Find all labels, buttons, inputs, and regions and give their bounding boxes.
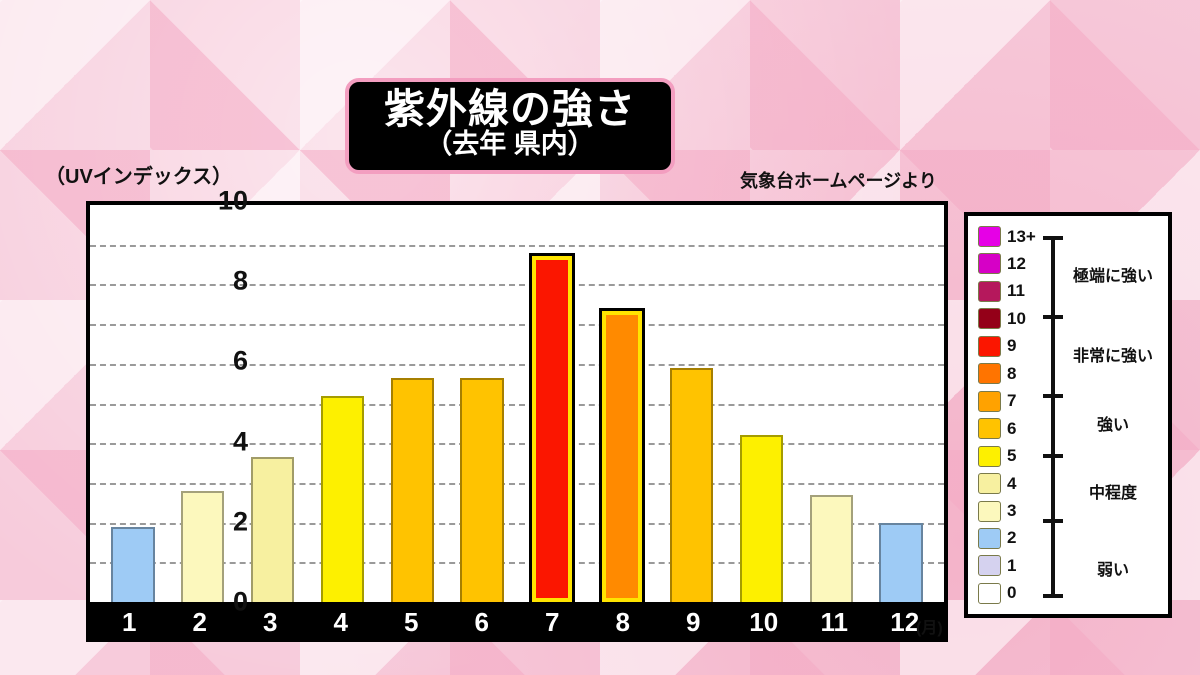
bar-month-7[interactable] (529, 253, 575, 602)
legend-row: 0 (978, 581, 1040, 606)
bar-month-10[interactable] (740, 435, 783, 602)
legend-row: 2 (978, 526, 1040, 551)
bar-month-8[interactable] (599, 308, 645, 602)
x-tick-label-4: 4 (306, 607, 377, 638)
page-subtitle: （去年 県内） (359, 130, 661, 160)
legend-swatch-0 (978, 583, 1001, 604)
legend-swatch-label: 5 (1007, 446, 1016, 466)
legend-swatch-11 (978, 281, 1001, 302)
bar-month-11[interactable] (810, 495, 853, 602)
legend-swatch-10 (978, 308, 1001, 329)
y-tick-label: 10 (188, 186, 248, 217)
y-tick-label: 6 (188, 346, 248, 377)
bar-slot (657, 205, 727, 602)
legend-category-label: 中程度 (1064, 479, 1162, 503)
source-attribution: 気象台ホームページより (740, 167, 937, 193)
bar-slot (726, 205, 796, 602)
legend-swatch-8 (978, 363, 1001, 384)
bar-month-9[interactable] (670, 368, 713, 602)
legend-row: 9 (978, 334, 1040, 359)
bar-slot (307, 205, 377, 602)
bar-slot (796, 205, 866, 602)
legend-row: 12 (978, 251, 1040, 276)
bar-month-6[interactable] (460, 378, 503, 602)
legend-row: 3 (978, 499, 1040, 524)
legend-row: 1 (978, 553, 1040, 578)
legend-swatch-label: 11 (1007, 281, 1025, 301)
legend-category-label: 強い (1064, 411, 1162, 435)
x-tick-label-10: 10 (729, 607, 800, 638)
x-tick-label-8: 8 (588, 607, 659, 638)
scale-tick (1043, 236, 1063, 240)
scale-tick (1043, 394, 1063, 398)
legend-row: 4 (978, 471, 1040, 496)
legend-swatch-label: 8 (1007, 364, 1016, 384)
y-tick-label: 8 (188, 266, 248, 297)
legend-row: 13+ (978, 224, 1040, 249)
bar-month-3[interactable] (251, 457, 294, 602)
legend-row: 10 (978, 306, 1040, 331)
bar-slot (866, 205, 936, 602)
legend-swatch-label: 4 (1007, 474, 1016, 494)
legend-row: 6 (978, 416, 1040, 441)
y-tick-label: 0 (188, 587, 248, 618)
x-tick-label-11: 11 (799, 607, 870, 638)
bar-month-4[interactable] (321, 396, 364, 602)
legend-swatch-5 (978, 446, 1001, 467)
y-tick-label: 2 (188, 506, 248, 537)
legend-swatch-label: 7 (1007, 391, 1016, 411)
legend-swatch-3 (978, 501, 1001, 522)
scale-tick (1043, 315, 1063, 319)
legend-row: 7 (978, 389, 1040, 414)
bar-slot (377, 205, 447, 602)
uv-index-legend: 13+1211109876543210 極端に強い非常に強い強い中程度弱い (964, 212, 1172, 618)
x-axis-unit-label: (月) (916, 614, 943, 638)
scale-tick (1043, 519, 1063, 523)
bar-month-5[interactable] (391, 378, 434, 602)
bars-group (90, 205, 944, 602)
legend-swatch-label: 2 (1007, 528, 1016, 548)
plot-canvas (90, 205, 944, 602)
bar-slot (98, 205, 168, 602)
legend-swatch-4 (978, 473, 1001, 494)
legend-category-label: 弱い (1064, 556, 1162, 580)
legend-scale-bar (1042, 224, 1064, 606)
bar-month-12[interactable] (879, 523, 922, 602)
x-tick-label-6: 6 (447, 607, 518, 638)
legend-swatch-9 (978, 336, 1001, 357)
legend-category-label: 極端に強い (1064, 262, 1162, 286)
legend-swatch-label: 10 (1007, 309, 1026, 329)
legend-swatch-12 (978, 253, 1001, 274)
bar-slot (587, 205, 657, 602)
legend-category-list: 極端に強い非常に強い強い中程度弱い (1064, 224, 1162, 606)
page-title: 紫外線の強さ (359, 88, 661, 131)
scale-tick (1043, 594, 1063, 598)
legend-swatch-label: 6 (1007, 419, 1016, 439)
legend-row: 8 (978, 361, 1040, 386)
legend-swatch-label: 0 (1007, 583, 1016, 603)
legend-category-label: 非常に強い (1064, 342, 1162, 366)
legend-swatch-label: 1 (1007, 556, 1016, 576)
legend-swatch-6 (978, 418, 1001, 439)
legend-swatch-1 (978, 555, 1001, 576)
legend-swatch-list: 13+1211109876543210 (978, 224, 1040, 606)
bar-slot (517, 205, 587, 602)
chart-title-box: 紫外線の強さ （去年 県内） (345, 78, 675, 174)
x-tick-label-1: 1 (94, 607, 165, 638)
chart-plot-area (86, 201, 948, 602)
legend-row: 5 (978, 444, 1040, 469)
scale-tick (1043, 454, 1063, 458)
legend-row: 11 (978, 279, 1040, 304)
x-tick-label-5: 5 (376, 607, 447, 638)
bar-slot (238, 205, 308, 602)
bar-slot (168, 205, 238, 602)
y-tick-label: 4 (188, 426, 248, 457)
x-tick-label-7: 7 (517, 607, 588, 638)
legend-swatch-label: 9 (1007, 336, 1016, 356)
bar-slot (447, 205, 517, 602)
x-tick-label-9: 9 (658, 607, 729, 638)
legend-swatch-2 (978, 528, 1001, 549)
legend-swatch-label: 12 (1007, 254, 1026, 274)
legend-swatch-13+ (978, 226, 1001, 247)
scale-line (1051, 236, 1055, 594)
legend-swatch-label: 13+ (1007, 227, 1036, 247)
bar-month-1[interactable] (111, 527, 154, 602)
legend-swatch-7 (978, 391, 1001, 412)
legend-swatch-label: 3 (1007, 501, 1016, 521)
